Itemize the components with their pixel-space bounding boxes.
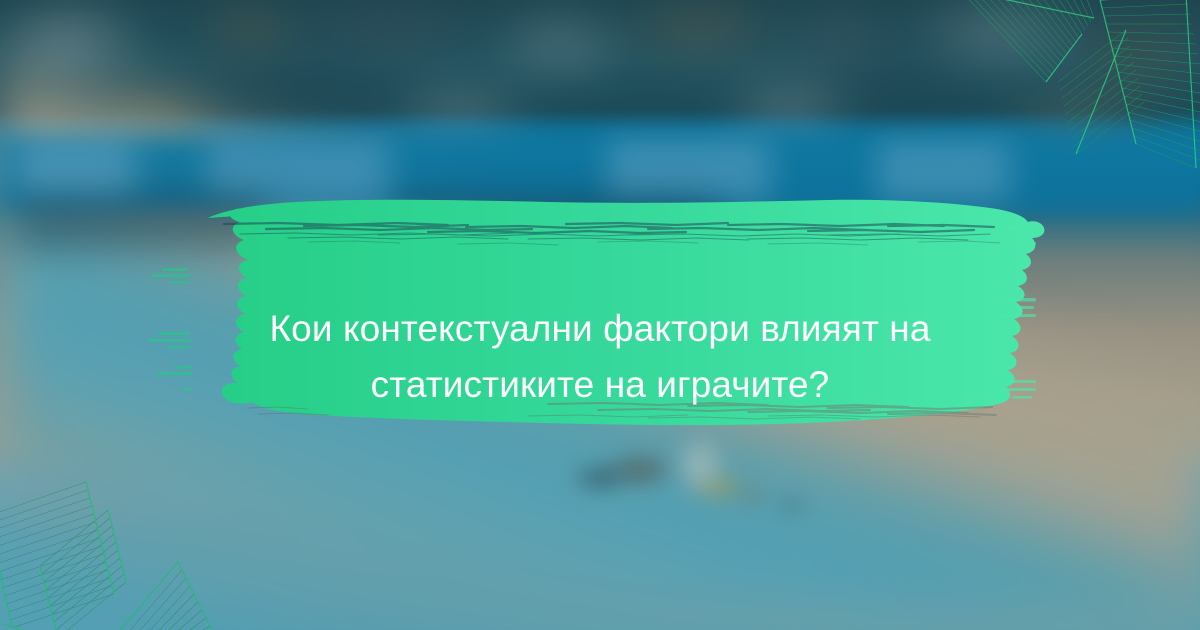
headline-text: Кои контекстуални фактори влияят на стат… — [180, 301, 1020, 413]
mesh-decoration-bottom-left-icon — [0, 426, 252, 630]
social-card: Кои контекстуални фактори влияят на стат… — [0, 0, 1200, 630]
